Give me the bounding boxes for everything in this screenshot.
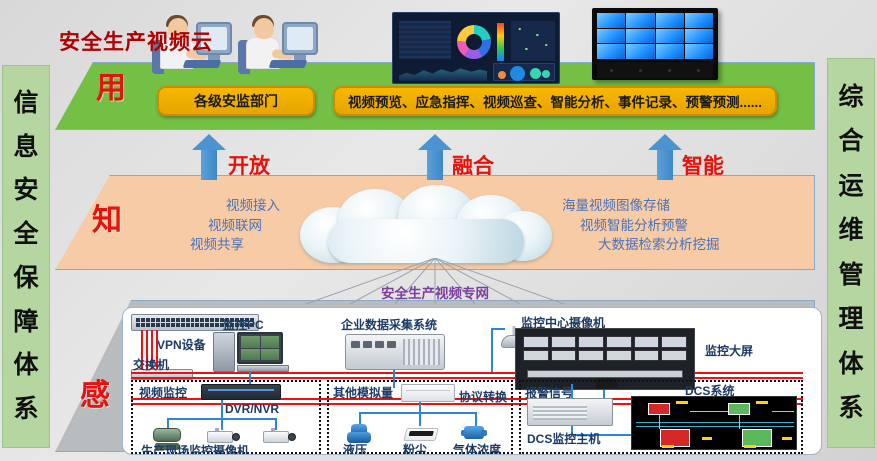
button-safety-departments[interactable]: 各级安监部门 [157,86,315,116]
dcs-system-screen-icon [631,396,797,450]
cloud-capabilities-right: 海量视频图像存储 视频智能分析预警 大数据检索分析挖掘 [562,196,762,255]
label-hydraulic: 液压 [343,441,367,455]
label-analog-group: 其他模拟量 [333,384,393,401]
label-protocol-conversion: 协议转换 [459,388,507,405]
pillar-left-char-6: 体 [13,353,38,378]
capability-item: 海量视频图像存储 [562,196,762,216]
label-gas-concentration: 气体浓度 [453,441,501,455]
layer-mark-know: 知 [92,195,123,239]
up-arrow-convergence [418,134,452,180]
pillar-right-char-2: 运 [838,174,863,199]
layer-mark-use: 用 [96,63,127,107]
pillar-information-security: 信 息 安 全 保 障 体 系 [2,65,50,448]
up-arrow-open [192,134,226,180]
data-collector-icon [345,334,445,370]
pillar-operations-management: 综 合 运 维 管 理 体 系 [827,58,875,448]
pillar-left-char-1: 息 [13,135,38,160]
infrastructure-panel: VPN设备 交换机 监控PC 企业数据采集系统 [122,307,822,455]
dust-sensor-icon [403,428,438,441]
dashboard-table-panel [399,21,451,59]
label-dvr-nvr: DVR/NVR [225,402,279,416]
video-wall-grid [597,13,713,59]
video-wall-illustration [592,8,718,80]
pillar-left-char-4: 保 [13,266,38,291]
analytics-dashboard-illustration [392,12,560,84]
dashboard-area-chart [399,63,487,81]
dashboard-scatter-panel [511,21,555,61]
pillar-right-char-3: 维 [838,218,863,243]
capability-item: 视频智能分析预警 [580,216,762,236]
label-vpn-device: VPN设备 [157,336,206,353]
pillar-right-char-6: 体 [838,352,863,377]
pillar-left-char-3: 全 [13,222,38,247]
capability-item: 大数据检索分析挖掘 [598,235,762,255]
protocol-converter-icon [401,384,455,402]
dashboard-bubble-panel [493,63,555,81]
gas-sensor-icon [461,424,489,442]
pillar-left-char-7: 系 [13,397,38,422]
pillar-right-char-0: 综 [838,85,863,110]
pillar-right-char-4: 管 [838,263,863,288]
pillar-right-char-1: 合 [838,129,863,154]
cloud-label-video-cloud: 安全生产视频云 [0,26,272,56]
keyboard-icon [183,60,222,68]
pillar-right-char-7: 系 [838,396,863,421]
arrow-label-open: 开放 [228,150,270,180]
pc-monitor-icon [237,332,283,364]
pc-tower-icon [213,332,235,372]
layer-mark-sense: 感 [80,370,111,414]
pillar-left-char-0: 信 [13,91,38,116]
label-monitoring-bigscreen: 监控大屏 [705,342,753,359]
pillar-left-char-2: 安 [13,178,38,203]
dashboard-donut-chart [457,25,491,59]
dcs-host-icon [527,398,613,426]
dvr-nvr-icon [201,384,281,400]
diagram-canvas: 信 息 安 全 保 障 体 系 综 合 运 维 管 理 体 系 用 知 感 [0,0,877,461]
network-label-private-video-network: 安全生产视频专网 [300,282,570,302]
label-monitor-pc: 监控PC [223,316,264,333]
capability-item: 视频联网 [120,216,262,236]
video-wall-base [597,62,713,78]
monitor-icon [282,22,318,55]
bullet-camera-icon [263,428,299,446]
label-data-collection-system: 企业数据采集系统 [341,316,437,333]
capability-item: 视频接入 [120,196,280,216]
label-switch: 交换机 [133,356,169,373]
cloud-shape [288,185,560,263]
cloud-capabilities-left: 视频接入 视频联网 视频共享 [120,196,280,255]
pillar-right-char-5: 理 [838,307,863,332]
capability-item: 视频共享 [120,235,244,255]
button-platform-functions[interactable]: 视频预览、应急指挥、视频巡查、智能分析、事件记录、预警预测...... [333,86,777,116]
arrow-label-convergence: 融合 [452,150,494,180]
label-dcs-host: DCS监控主机 [527,430,600,447]
label-video-surveillance-group: 视频监控 [139,384,187,401]
pillar-left-char-5: 障 [13,310,38,335]
up-arrow-intelligence [648,134,682,180]
keyboard-icon [269,60,308,68]
dashboard-gauge-bar [497,23,504,61]
arrow-label-intelligence: 智能 [682,150,724,180]
pc-keyboard-icon [237,365,289,372]
label-dust: 粉尘 [403,441,427,455]
label-field-cameras: 生产现场监控摄像机 [141,442,249,455]
